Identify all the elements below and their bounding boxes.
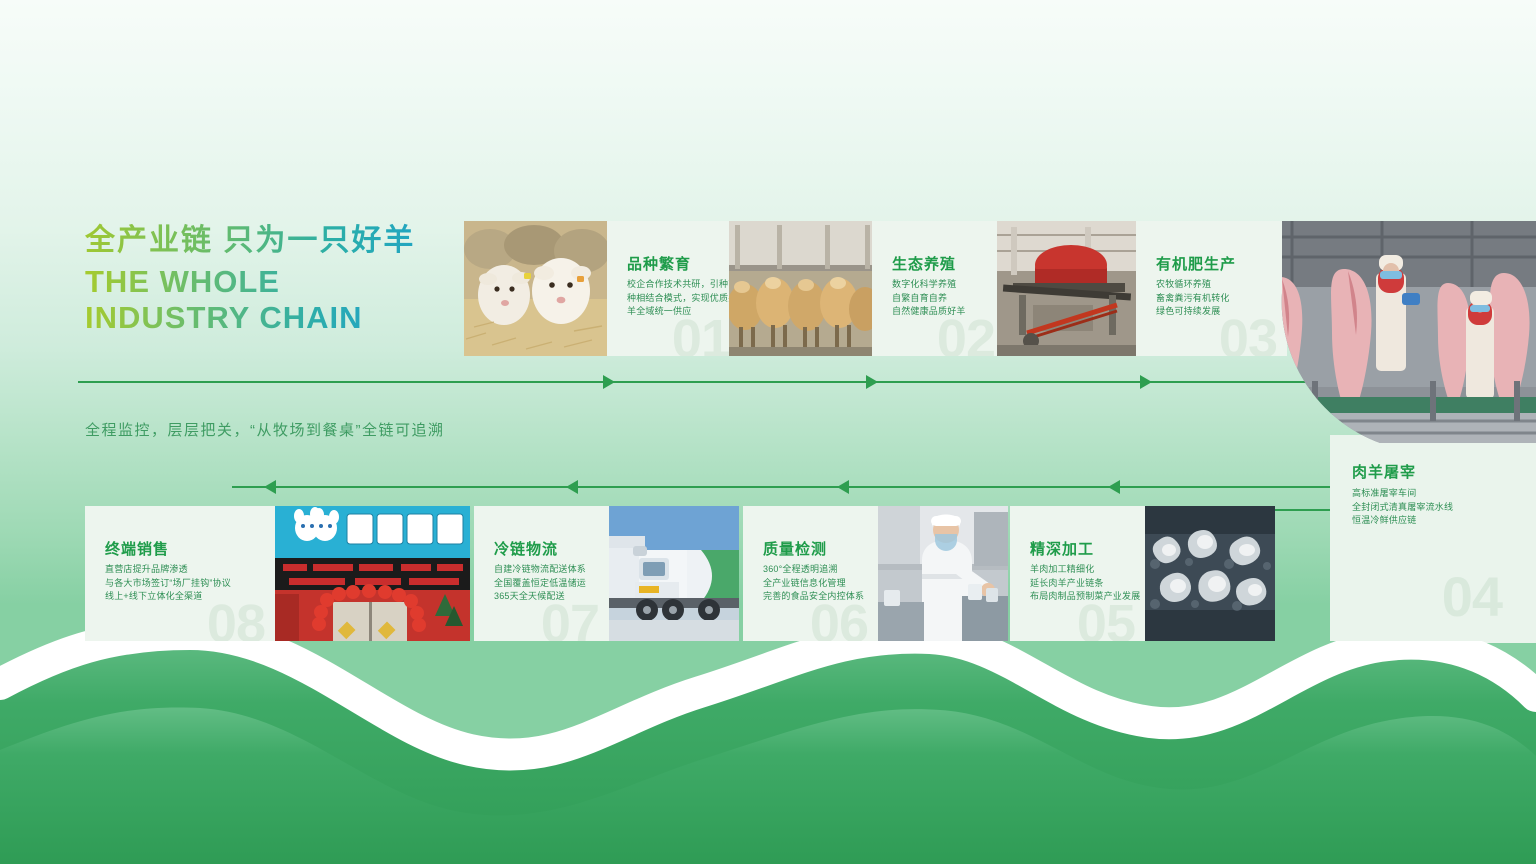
card-title: 有机肥生产	[1156, 253, 1236, 274]
flow-caption: 全程监控，层层把关，“从牧场到餐桌”全链可追溯	[85, 419, 445, 440]
flow-arrow-left-4	[264, 480, 276, 494]
chain-card-03[interactable]: 有机肥生产 农牧循环养殖 畜禽粪污有机转化 绿色可持续发展 03	[997, 221, 1287, 356]
card-line: 全国覆盖恒定低温储运	[494, 577, 586, 591]
flow-arrow-left-3	[566, 480, 578, 494]
chain-card-05[interactable]: 精深加工 羊肉加工精细化 延长肉羊产业链条 布局肉制品预制菜产业发展 05	[1010, 506, 1275, 641]
card-photo-refrigerated-truck	[609, 506, 739, 641]
card-line: 全封闭式清真屠宰流水线	[1352, 501, 1453, 515]
flow-arrow-right-3	[1140, 375, 1152, 389]
flow-arrow-left-1	[1108, 480, 1120, 494]
card-line: 农牧循环养殖	[1156, 278, 1230, 292]
card-text-07: 冷链物流 自建冷链物流配送体系 全国覆盖恒定低温储运 365天全天候配送 07	[474, 506, 609, 641]
page-title-en-line2: INDUSTRY CHAIN	[85, 300, 485, 337]
card-line: 直营店提升品牌渗透	[105, 563, 231, 577]
page-title-en: THE WHOLE INDUSTRY CHAIN	[85, 264, 485, 337]
card-photo-fertilizer-machinery	[997, 221, 1136, 356]
card-line: 全产业链信息化管理	[763, 577, 864, 591]
card-number: 06	[810, 597, 868, 641]
chain-card-02[interactable]: 生态养殖 数字化科学养殖 自繁自育自养 自然健康品质好羊 02	[729, 221, 1005, 356]
card-photo-lambs-in-pen	[464, 221, 607, 356]
page-heading: 全产业链 只为一只好羊 THE WHOLE INDUSTRY CHAIN	[85, 222, 485, 337]
card-text-05: 精深加工 羊肉加工精细化 延长肉羊产业链条 布局肉制品预制菜产业发展 05	[1010, 506, 1145, 641]
card-photo-lab-technician	[878, 506, 1008, 641]
card-number: 08	[207, 597, 265, 641]
chain-card-06[interactable]: 质量检测 360°全程透明追溯 全产业链信息化管理 完善的食品安全内控体系 06	[743, 506, 1008, 641]
chain-card-07[interactable]: 冷链物流 自建冷链物流配送体系 全国覆盖恒定低温储运 365天全天候配送 07	[474, 506, 739, 641]
card-title: 质量检测	[763, 538, 827, 559]
card-line: 延长肉羊产业链条	[1030, 577, 1140, 591]
card-line: 恒温冷鲜供应链	[1352, 514, 1453, 528]
flow-arrow-left-2	[837, 480, 849, 494]
card-number: 02	[937, 312, 995, 356]
card-number: 07	[541, 597, 599, 641]
chain-card-08[interactable]: 终端销售 直营店提升品牌渗透 与各大市场签订“场厂挂钩”协议 线上+线下立体化全…	[85, 506, 470, 641]
card-line: 自繁自育自养	[892, 292, 966, 306]
card-title: 肉羊屠宰	[1352, 461, 1416, 482]
card-lines: 高标准屠宰车间 全封闭式清真屠宰流水线 恒温冷鲜供应链	[1352, 487, 1453, 528]
card-photo-processed-meat	[1145, 506, 1275, 641]
card-title: 终端销售	[105, 538, 169, 559]
card-photo-retail-storefront	[275, 506, 470, 641]
card-line: 种相结合模式，实现优质羔	[627, 292, 737, 306]
card-title: 精深加工	[1030, 538, 1094, 559]
card-line: 与各大市场签订“场厂挂钩”协议	[105, 577, 231, 591]
card-number: 04	[1442, 569, 1502, 625]
card-text-08: 终端销售 直营店提升品牌渗透 与各大市场签订“场厂挂钩”协议 线上+线下立体化全…	[85, 506, 275, 641]
page-title-cn: 全产业链 只为一只好羊	[85, 222, 485, 260]
card-photo-sheep-barn	[729, 221, 872, 356]
card-title: 品种繁育	[627, 253, 691, 274]
card-line: 畜禽粪污有机转化	[1156, 292, 1230, 306]
card-line: 高标准屠宰车间	[1352, 487, 1453, 501]
card-line: 数字化科学养殖	[892, 278, 966, 292]
card-text-01: 品种繁育 校企合作技术共研，引种育 种相结合模式，实现优质羔 羊全域统一供应 0…	[607, 221, 740, 356]
flow-line-bottom	[232, 486, 1342, 488]
card-line: 360°全程透明追溯	[763, 563, 864, 577]
page-title-en-line1: THE WHOLE	[85, 264, 485, 301]
chain-card-04[interactable]: 肉羊屠宰 高标准屠宰车间 全封闭式清真屠宰流水线 恒温冷鲜供应链 04	[1330, 443, 1536, 641]
card-title: 生态养殖	[892, 253, 956, 274]
card-title: 冷链物流	[494, 538, 558, 559]
card-number: 01	[672, 312, 730, 356]
card-text-06: 质量检测 360°全程透明追溯 全产业链信息化管理 完善的食品安全内控体系 06	[743, 506, 878, 641]
flow-arrow-right-1	[603, 375, 615, 389]
chain-card-04-photo	[1252, 221, 1536, 443]
card-line: 羊肉加工精细化	[1030, 563, 1140, 577]
flow-line-top	[78, 381, 1288, 383]
chain-card-01[interactable]: 品种繁育 校企合作技术共研，引种育 种相结合模式，实现优质羔 羊全域统一供应 0…	[464, 221, 740, 356]
card-line: 校企合作技术共研，引种育	[627, 278, 737, 292]
card-number: 05	[1077, 597, 1135, 641]
card-text-02: 生态养殖 数字化科学养殖 自繁自育自养 自然健康品质好羊 02	[872, 221, 1005, 356]
card-line: 自建冷链物流配送体系	[494, 563, 586, 577]
flow-arrow-right-2	[866, 375, 878, 389]
